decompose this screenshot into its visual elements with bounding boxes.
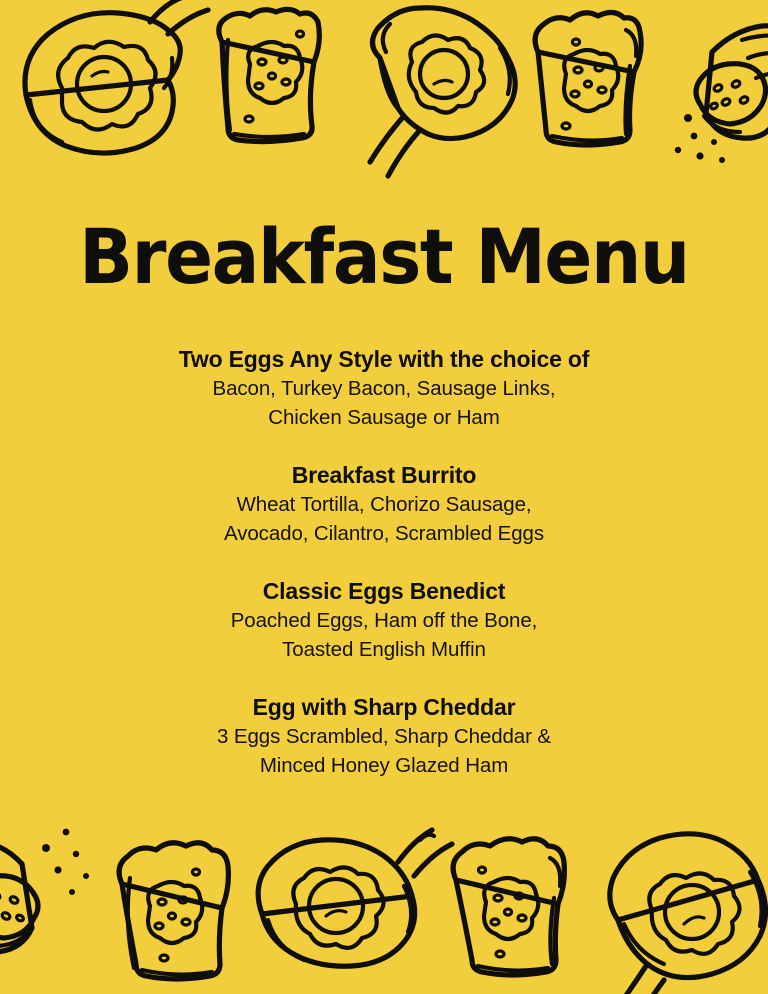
menu-item-description: Poached Eggs, Ham off the Bone, Toasted … [0,606,768,664]
menu-item-description: Wheat Tortilla, Chorizo Sausage, Avocado… [0,490,768,548]
menu-item-description: Bacon, Turkey Bacon, Sausage Links, Chic… [0,374,768,432]
menu-item-name: Egg with Sharp Cheddar [0,692,768,722]
menu-item-description-line: Bacon, Turkey Bacon, Sausage Links, [0,374,768,403]
menu-item-name: Breakfast Burrito [0,460,768,490]
menu-item-name: Classic Eggs Benedict [0,576,768,606]
menu-item-name: Two Eggs Any Style with the choice of [0,344,768,374]
menu-item-description-line: Avocado, Cilantro, Scrambled Eggs [0,519,768,548]
menu-item-description-line: Chicken Sausage or Ham [0,403,768,432]
menu-item: Breakfast Burrito Wheat Tortilla, Choriz… [0,460,768,548]
menu-item: Classic Eggs Benedict Poached Eggs, Ham … [0,576,768,664]
breakfast-menu-poster: Breakfast Menu Two Eggs Any Style with t… [0,0,768,994]
menu-content: Breakfast Menu Two Eggs Any Style with t… [0,0,768,994]
menu-item-description-line: Poached Eggs, Ham off the Bone, [0,606,768,635]
menu-item-description-line: Wheat Tortilla, Chorizo Sausage, [0,490,768,519]
page-title: Breakfast Menu [27,219,741,295]
menu-item-description-line: 3 Eggs Scrambled, Sharp Cheddar & [0,722,768,751]
menu-item-description: 3 Eggs Scrambled, Sharp Cheddar & Minced… [0,722,768,780]
menu-items-list: Two Eggs Any Style with the choice of Ba… [0,344,768,780]
menu-item-description-line: Minced Honey Glazed Ham [0,751,768,780]
menu-item: Two Eggs Any Style with the choice of Ba… [0,344,768,432]
menu-item: Egg with Sharp Cheddar 3 Eggs Scrambled,… [0,692,768,780]
menu-item-description-line: Toasted English Muffin [0,635,768,664]
